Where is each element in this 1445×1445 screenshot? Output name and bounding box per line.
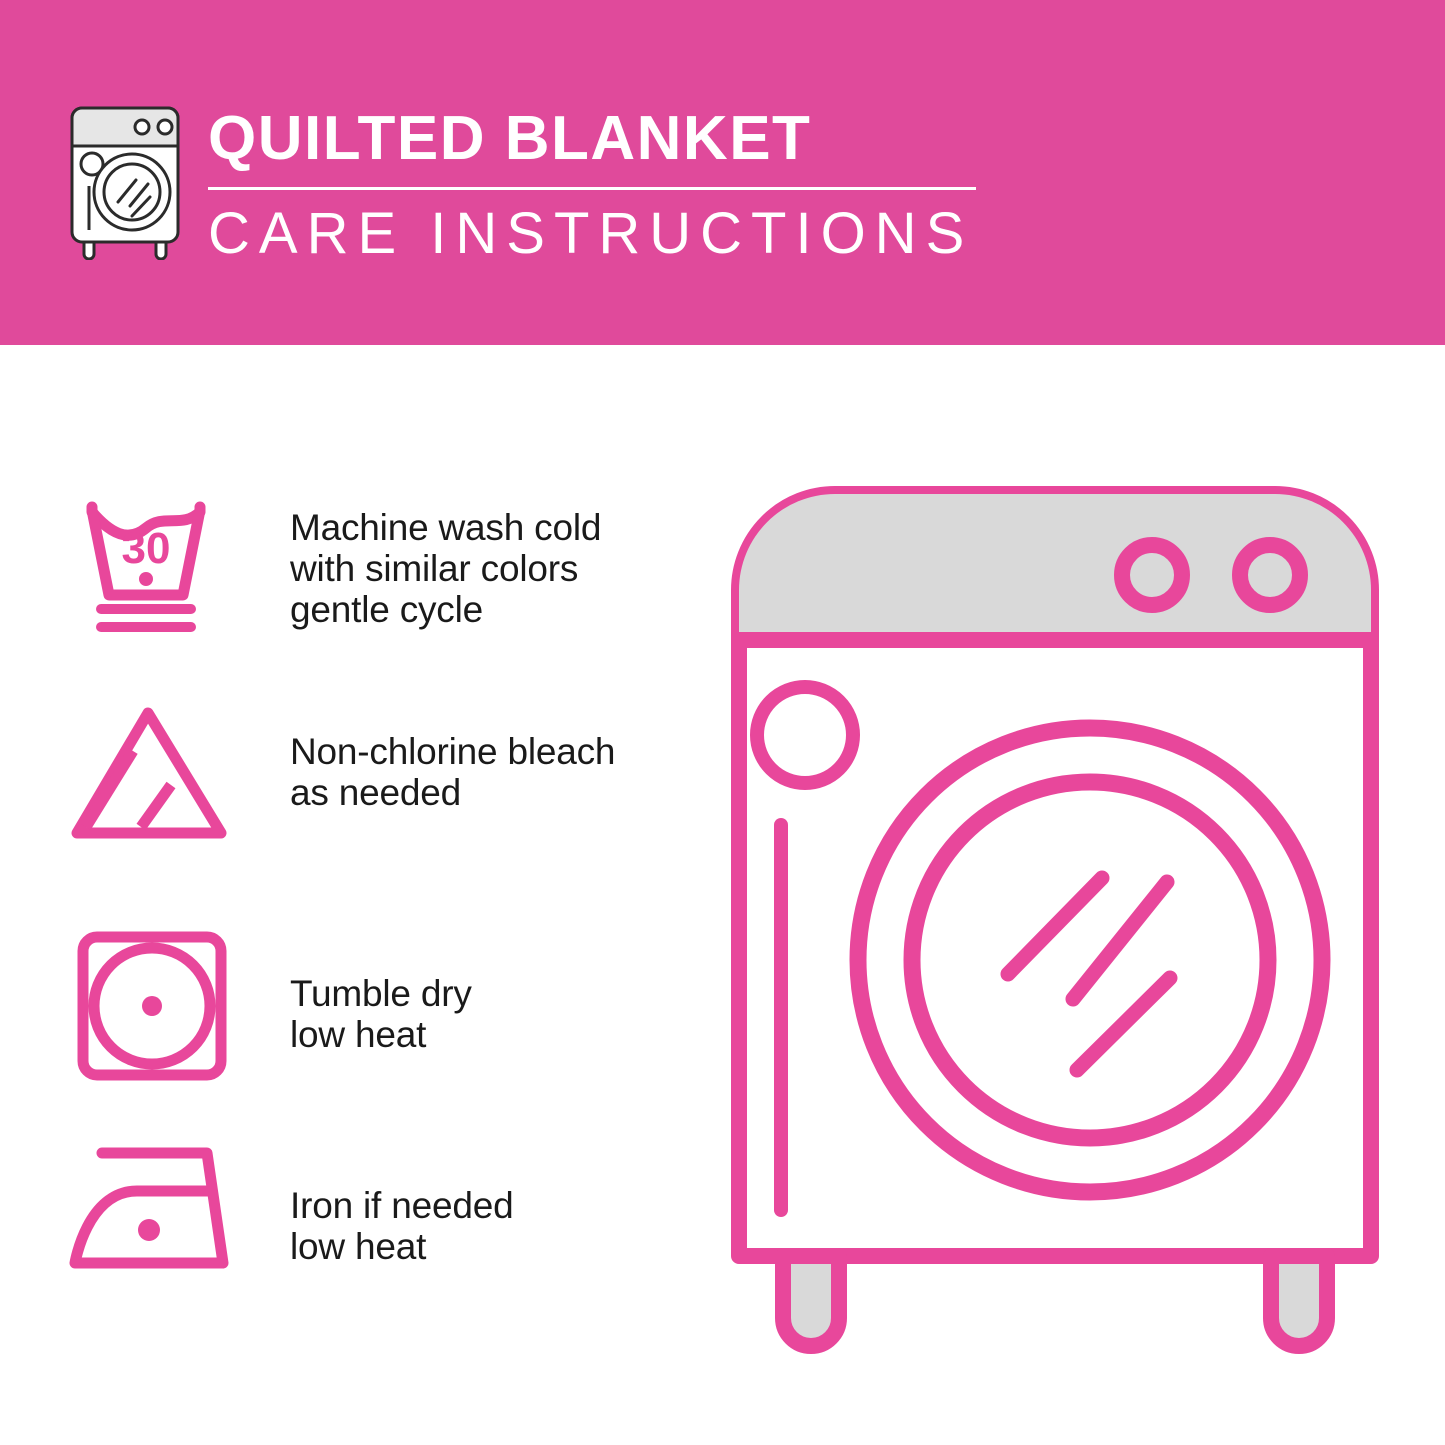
bleach-triangle-icon [65, 695, 250, 860]
care-line: low heat [290, 1014, 472, 1055]
care-line: Machine wash cold [290, 507, 601, 548]
title-divider [208, 187, 976, 190]
knob-left-icon [1122, 545, 1182, 605]
header-banner: QUILTED BLANKET CARE INSTRUCTIONS [0, 0, 1445, 345]
tumble-dry-icon [65, 925, 250, 1090]
care-line: with similar colors [290, 548, 601, 589]
wash-temperature-label: 30 [122, 524, 171, 573]
care-instruction-list: 30 Machine wash cold with similar colors… [0, 345, 700, 1445]
page-title: QUILTED BLANKET [208, 103, 998, 175]
care-line: Non-chlorine bleach [290, 731, 615, 772]
list-item-label: Machine wash cold with similar colors ge… [290, 507, 601, 630]
care-line: as needed [290, 772, 615, 813]
care-line: Iron if needed [290, 1185, 513, 1226]
wash-tub-icon: 30 [65, 485, 250, 650]
care-line: gentle cycle [290, 589, 601, 630]
iron-icon [65, 1135, 250, 1300]
care-line: Tumble dry [290, 973, 472, 1014]
leg-left [783, 1256, 839, 1346]
list-item-label: Non-chlorine bleach as needed [290, 731, 615, 813]
care-line: low heat [290, 1226, 513, 1267]
washing-machine-icon [60, 100, 190, 260]
leg-right [1271, 1256, 1327, 1346]
list-item-label: Iron if needed low heat [290, 1185, 513, 1267]
list-item-label: Tumble dry low heat [290, 973, 472, 1055]
page-subtitle: CARE INSTRUCTIONS [208, 201, 998, 267]
washing-machine-illustration [715, 470, 1415, 1370]
header-title-group: QUILTED BLANKET CARE INSTRUCTIONS [208, 103, 998, 267]
knob-right-icon [1240, 545, 1300, 605]
